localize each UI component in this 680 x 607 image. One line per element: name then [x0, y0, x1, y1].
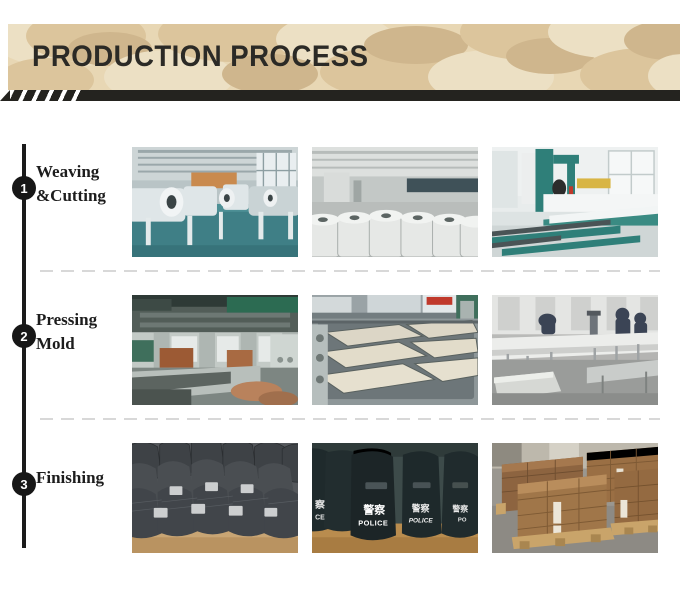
step-2-thumbnails	[131, 294, 659, 406]
header-accent-bar	[0, 90, 680, 101]
step-divider-2	[40, 418, 660, 420]
step-label-line1: Weaving	[36, 160, 128, 184]
fabric-rolls-image	[312, 147, 478, 257]
camo-banner-background: PRODUCTION PROCESS	[8, 24, 680, 90]
header-banner: PRODUCTION PROCESS	[0, 24, 680, 104]
step-1-thumbnails	[131, 146, 659, 258]
thumbnail-police-shields[interactable]: 警察 POLICE 警察 POLICE 警察 PO 察	[311, 442, 479, 554]
svg-text:警察: 警察	[452, 504, 468, 514]
thumbnail-stacked-panels[interactable]	[131, 442, 299, 554]
step-number-badge-2: 2	[12, 324, 36, 348]
svg-text:警察: 警察	[411, 503, 430, 514]
step-label-2: Pressing Mold	[36, 308, 128, 356]
process-step-3: 3 Finishing	[0, 426, 680, 574]
page-title: PRODUCTION PROCESS	[32, 40, 368, 74]
step-label-line1: Finishing	[36, 466, 128, 490]
timeline-rail	[22, 278, 26, 426]
bar-notch-icon	[0, 90, 10, 101]
svg-text:PO: PO	[458, 518, 467, 524]
thumbnail-assembly-workshop[interactable]	[491, 294, 659, 406]
thumbnail-packed-cartons[interactable]	[491, 442, 659, 554]
step-label-3: Finishing	[36, 466, 128, 490]
process-step-2: 2 Pressing Mold	[0, 278, 680, 426]
svg-text:警察: 警察	[362, 503, 385, 517]
packed-cartons-image	[492, 443, 658, 553]
timeline-rail	[22, 144, 26, 278]
weaving-machines-image	[132, 147, 298, 257]
diagonal-stripes-icon	[10, 90, 82, 101]
step-label-line2: Mold	[36, 332, 128, 356]
svg-text:POLICE: POLICE	[409, 518, 434, 525]
step-label-1: Weaving &Cutting	[36, 160, 128, 208]
assembly-workshop-image	[492, 295, 658, 405]
step-number-badge-3: 3	[12, 472, 36, 496]
thumbnail-cutting-machine[interactable]	[491, 146, 659, 258]
thumbnail-fabric-rolls[interactable]	[311, 146, 479, 258]
pressed-molds-image	[312, 295, 478, 405]
production-process-page: PRODUCTION PROCESS 1 Weaving &Cutting	[0, 0, 680, 607]
thumbnail-hydraulic-press[interactable]	[131, 294, 299, 406]
cutting-machine-image	[492, 147, 658, 257]
svg-text:察: 察	[314, 498, 325, 511]
process-steps-list: 1 Weaving &Cutting	[0, 130, 680, 574]
svg-text:CE: CE	[315, 515, 325, 522]
stacked-panels-image	[132, 443, 298, 553]
step-3-thumbnails: 警察 POLICE 警察 POLICE 警察 PO 察	[131, 442, 659, 554]
svg-text:POLICE: POLICE	[358, 519, 388, 528]
thumbnail-pressed-molds[interactable]	[311, 294, 479, 406]
step-number-badge-1: 1	[12, 176, 36, 200]
police-shields-image: 警察 POLICE 警察 POLICE 警察 PO 察	[312, 443, 478, 553]
hydraulic-press-image	[132, 295, 298, 405]
thumbnail-weaving-machines[interactable]	[131, 146, 299, 258]
step-label-line2: &Cutting	[36, 184, 128, 208]
step-label-line1: Pressing	[36, 308, 128, 332]
step-divider-1	[40, 270, 660, 272]
process-step-1: 1 Weaving &Cutting	[0, 130, 680, 278]
